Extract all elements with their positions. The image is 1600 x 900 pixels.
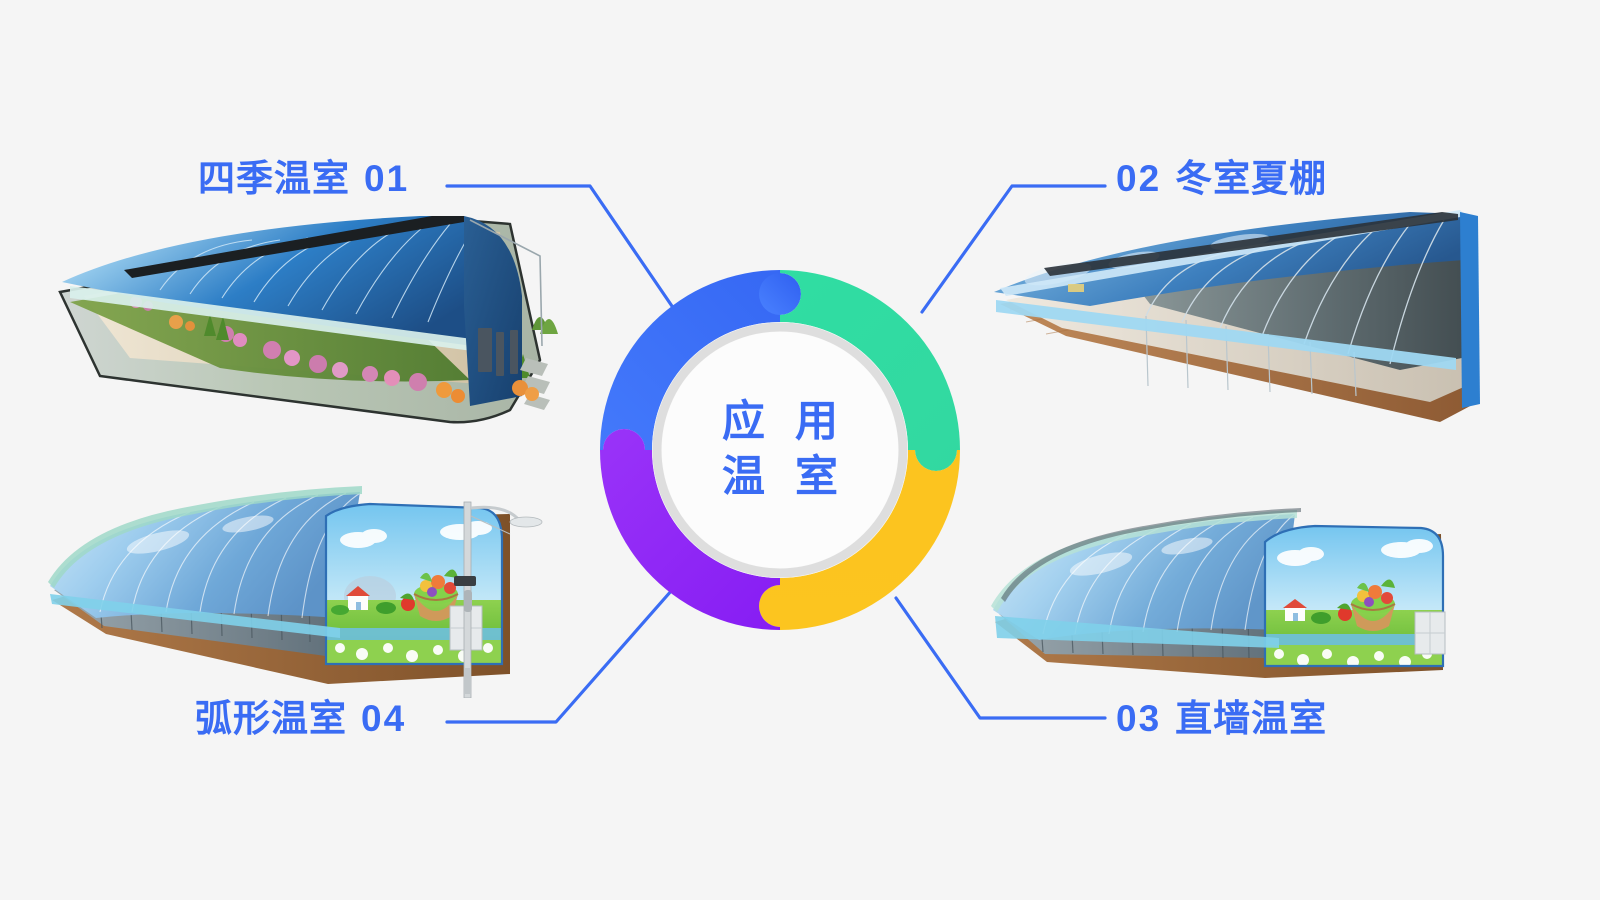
item-title-01: 四季温室 — [198, 158, 350, 199]
gh01-doors — [478, 328, 518, 376]
greenhouse-image-03 — [965, 498, 1475, 678]
infographic-canvas: 四季温室01 02冬室夏棚 弧形温室04 03直墙温室 — [0, 0, 1600, 900]
item-number-04: 04 — [361, 698, 406, 739]
item-label-03[interactable]: 03直墙温室 — [1116, 700, 1327, 737]
item-title-03: 直墙温室 — [1175, 698, 1327, 739]
gh03-control-panel — [1415, 612, 1445, 654]
item-label-01[interactable]: 四季温室01 — [198, 160, 409, 197]
gh02-marker — [1068, 284, 1084, 292]
item-number-01: 01 — [364, 158, 409, 199]
greenhouse-image-01 — [40, 210, 600, 445]
center-title-line1: 应 用 — [713, 395, 847, 450]
greenhouse-image-02 — [970, 208, 1485, 436]
center-title-line2: 温 室 — [713, 450, 847, 505]
item-title-04: 弧形温室 — [195, 698, 347, 739]
gh02-endwall — [1460, 212, 1480, 408]
greenhouse-image-04 — [40, 478, 550, 698]
item-number-03: 03 — [1116, 698, 1161, 739]
item-label-04[interactable]: 弧形温室04 — [195, 700, 406, 737]
item-label-02[interactable]: 02冬室夏棚 — [1116, 160, 1327, 197]
item-title-02: 冬室夏棚 — [1175, 158, 1327, 199]
center-title: 应 用 温 室 — [600, 270, 960, 630]
item-number-02: 02 — [1116, 158, 1161, 199]
